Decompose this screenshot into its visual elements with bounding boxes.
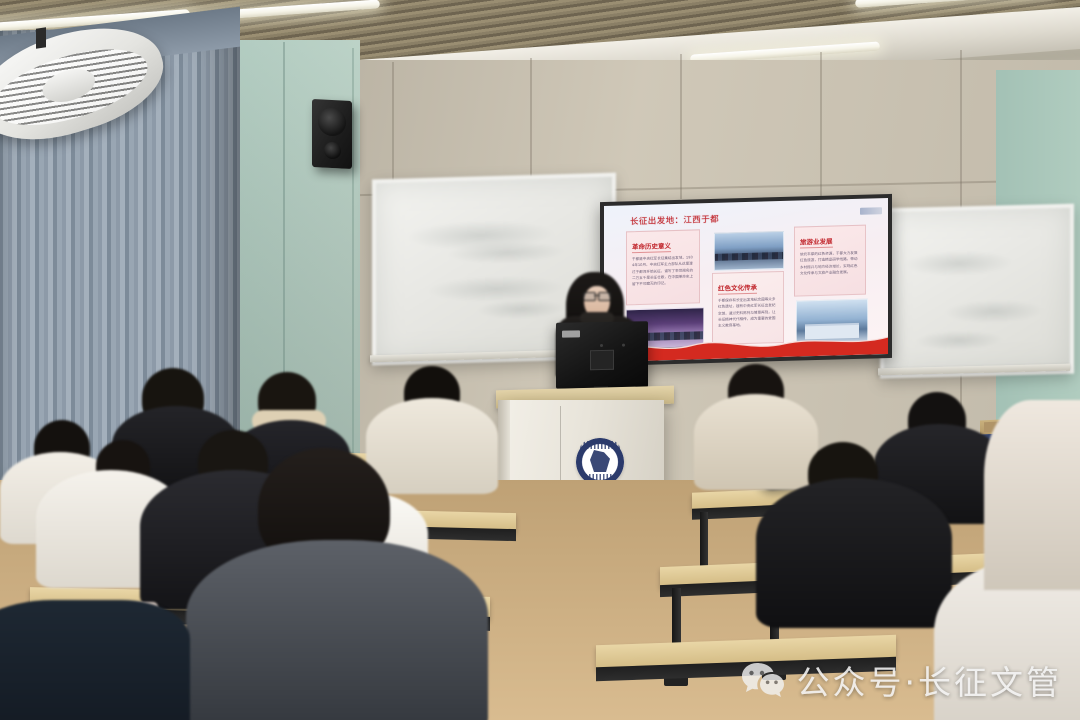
podium-monitor[interactable]: [556, 321, 648, 389]
speaker-woofer: [318, 107, 346, 136]
whiteboard-right: [880, 204, 1074, 379]
crest-text-arc-top: [580, 441, 620, 449]
left-wall-seam: [283, 42, 285, 512]
speaker-tweeter: [324, 142, 341, 160]
wall-panel-seam: [820, 52, 822, 197]
slide-card-heading: 旅游业发展: [800, 236, 833, 249]
classroom-photo: 长征出发地：江西于都 革命历史意义 于都是中央红军长征集结出发地，1934年10…: [0, 0, 1080, 720]
slide-card-heading: 红色文化传承: [718, 282, 757, 295]
speaker-bracket: [36, 27, 46, 48]
wall-panel-seam: [680, 54, 682, 199]
slide-card-left: 革命历史意义 于都是中央红军长征集结出发地，1934年10月，中央红军主力部队从…: [626, 229, 700, 305]
slide-title: 长征出发地：江西于都: [630, 213, 719, 227]
slide-card-body: 于都是中央红军长征集结出发地，1934年10月，中央红军主力部队从这里渡过于都河…: [632, 254, 694, 287]
slide-corner-logo: [860, 207, 882, 215]
watermark: 公众号·长征文管: [741, 654, 1063, 706]
slide-card-heading: 革命历史意义: [632, 240, 671, 253]
backpack-on-desk: [758, 449, 868, 491]
monitor-label: [562, 330, 580, 337]
paper-handout: [1, 686, 88, 720]
monitor-screw: [622, 344, 625, 347]
monitor-screw: [600, 344, 603, 347]
slide-card-body: 于都保存有长征出发地纪念园等众多红色遗址，建有中央红军长征出发纪念馆，通过史料陈…: [718, 296, 778, 329]
wall-speaker: [312, 99, 352, 169]
slide-card-right: 旅游业发展 依托丰厚的红色资源，于都大力发展红色旅游，打造精品研学线路，带动乡村…: [794, 225, 866, 297]
left-wall-seam: [352, 48, 354, 478]
slide-photo-riverside: [714, 231, 784, 271]
watermark-text: 公众号·长征文管: [797, 656, 1063, 704]
wechat-icon: [741, 661, 785, 699]
ceiling-light-tube: [855, 0, 1055, 8]
slide-card-body: 依托丰厚的红色资源，于都大力发展红色旅游，打造精品研学线路，带动乡村振兴与地方经…: [800, 250, 860, 277]
monitor-vesa-mount: [590, 350, 614, 370]
